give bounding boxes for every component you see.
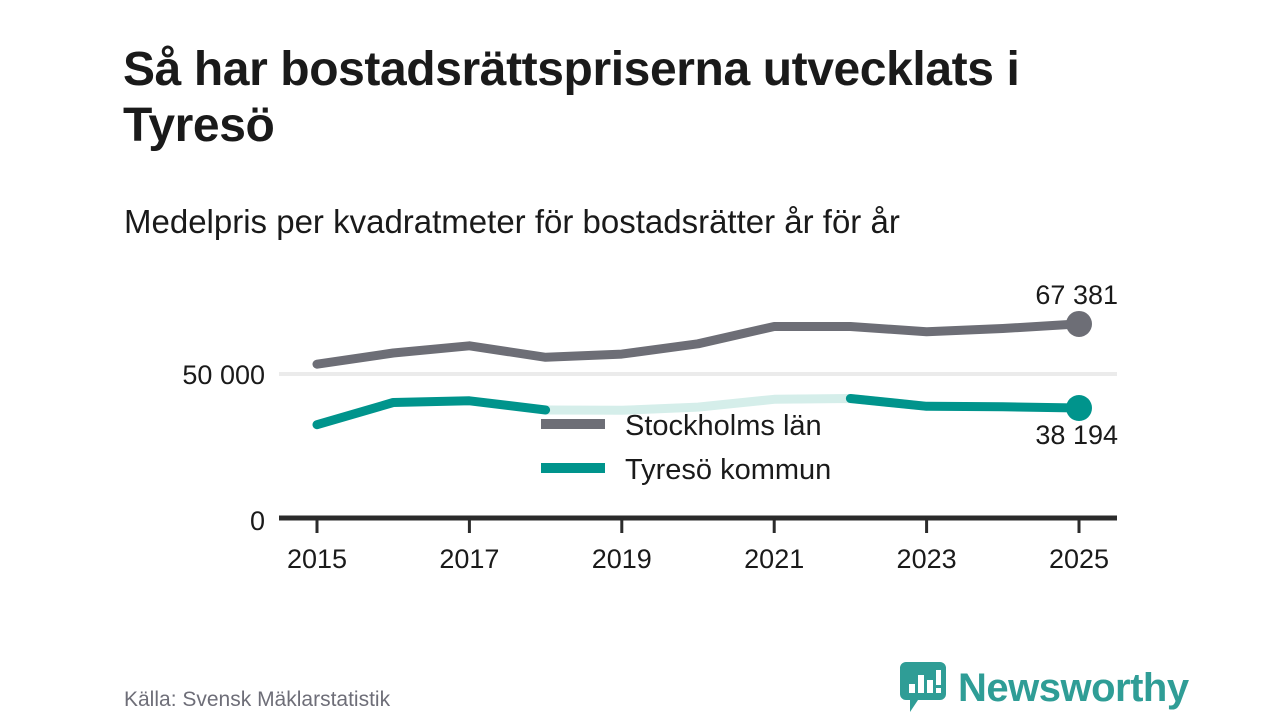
x-axis-tick-label: 2023 — [897, 544, 957, 574]
end-point-marker-tyreso-kommun — [1066, 395, 1092, 421]
chart-area: 50 000 0 201520172019202120232025 67 381… — [0, 0, 1280, 720]
series-line-tyreso-kommun-left — [317, 401, 546, 425]
bar-chart-speech-bubble-icon — [900, 662, 946, 714]
series-line-tyreso-kommun-right — [850, 399, 1079, 409]
legend-label-tyreso-kommun: Tyresö kommun — [625, 454, 831, 486]
legend-label-stockholms-lan: Stockholms län — [625, 410, 822, 442]
x-axis-tick-labels: 201520172019202120232025 — [287, 544, 1109, 574]
x-axis-tick-label: 2015 — [287, 544, 347, 574]
brand-name: Newsworthy — [958, 668, 1189, 708]
x-axis-tick-label: 2017 — [439, 544, 499, 574]
x-axis-tick-label: 2019 — [592, 544, 652, 574]
x-axis-tick-label: 2021 — [744, 544, 804, 574]
value-label-stockholms-lan: 67 381 — [1035, 280, 1118, 310]
line-chart: 50 000 0 201520172019202120232025 67 381… — [0, 0, 1280, 720]
y-axis-label-50000: 50 000 — [182, 360, 265, 390]
value-label-tyreso-kommun: 38 194 — [1035, 420, 1118, 450]
brand-logo: Newsworthy — [900, 662, 1189, 714]
y-axis-label-0: 0 — [250, 506, 265, 536]
series-line-stockholms-lan — [317, 324, 1079, 364]
chart-legend: Stockholms län Tyresö kommun — [541, 410, 831, 486]
end-point-marker-stockholms-lan — [1066, 311, 1092, 337]
chart-page: Så har bostadsrättspriserna utvecklats i… — [0, 0, 1280, 720]
source-note: Källa: Svensk Mäklarstatistik — [124, 688, 390, 712]
x-axis-tick-label: 2025 — [1049, 544, 1109, 574]
